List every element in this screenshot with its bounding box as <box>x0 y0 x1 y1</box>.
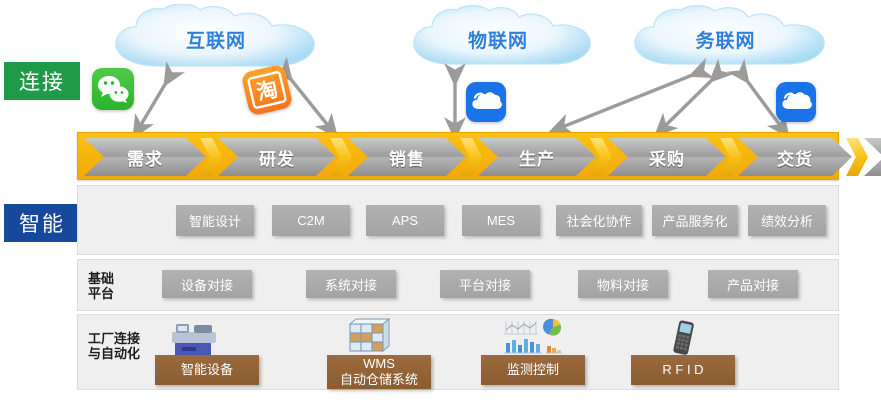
base-chip-product-integration[interactable]: 产品对接 <box>708 270 798 298</box>
base-chip-material-integration[interactable]: 物料对接 <box>578 270 668 298</box>
cloud-icon[interactable] <box>466 82 506 122</box>
smart-chip-mes[interactable]: MES <box>462 205 540 236</box>
factory-chip-monitoring-control[interactable]: 监测控制 <box>481 355 585 385</box>
wechat-icon[interactable] <box>92 68 134 110</box>
base-chip-system-integration[interactable]: 系统对接 <box>306 270 396 298</box>
chevron-shape-icon <box>864 138 881 176</box>
process-stage-label: 研发 <box>259 145 295 170</box>
factory-chip-label: WMS <box>363 356 395 372</box>
factory-automation-panel: 工厂连接 与自动化 智能设备 <box>77 314 839 390</box>
process-stage-label: 采购 <box>649 145 685 170</box>
base-chip-label: 物料对接 <box>597 275 649 294</box>
factory-title-line2: 与自动化 <box>88 346 140 361</box>
base-chip-label: 系统对接 <box>325 275 377 294</box>
cloud-service: 务联网 <box>618 4 833 72</box>
factory-chip-rfid[interactable]: R F I D <box>631 355 735 385</box>
diagram-canvas: 互联网 物联网 务联网 <box>0 0 881 400</box>
svg-text:淘: 淘 <box>254 77 280 105</box>
smart-chip-performance-analysis[interactable]: 绩效分析 <box>748 205 826 236</box>
base-chip-label: 平台对接 <box>459 275 511 294</box>
base-chip-equipment-integration[interactable]: 设备对接 <box>162 270 252 298</box>
taobao-icon[interactable]: 淘 <box>241 64 294 117</box>
process-stage-label: 生产 <box>519 145 555 170</box>
base-chip-label: 产品对接 <box>727 275 779 294</box>
smart-chip-product-servitization[interactable]: 产品服务化 <box>652 205 738 236</box>
factory-chip-smart-equipment[interactable]: 智能设备 <box>155 355 259 385</box>
smart-chip-label: 绩效分析 <box>761 211 813 230</box>
smart-chip-label: 社会化协作 <box>566 211 631 230</box>
factory-chip-label: 智能设备 <box>181 362 233 378</box>
factory-chip-label: R F I D <box>662 362 703 378</box>
base-platform-title-line2: 平台 <box>88 286 114 301</box>
smart-chip-aps[interactable]: APS <box>366 205 444 236</box>
factory-chip-label: 监测控制 <box>507 362 559 378</box>
arrow-internet-demand <box>139 76 170 128</box>
factory-title-line1: 工厂连接 <box>88 331 140 346</box>
cloud-internet: 互联网 <box>96 4 336 74</box>
process-stage-demand[interactable]: 需求 <box>84 138 206 176</box>
factory-automation-title: 工厂连接 与自动化 <box>88 331 140 361</box>
base-platform-title: 基础 平台 <box>88 271 114 301</box>
base-chip-platform-integration[interactable]: 平台对接 <box>440 270 530 298</box>
smart-chip-label: C2M <box>297 213 324 228</box>
process-stage-label: 销售 <box>389 145 425 170</box>
cloud-service-label: 务联网 <box>618 26 833 53</box>
process-bar: 需求 研发 销售 生产 采购 <box>77 132 839 180</box>
process-stage-delivery[interactable]: 交货 <box>738 138 852 176</box>
process-stage-rd[interactable]: 研发 <box>218 138 336 176</box>
process-stage-label: 交货 <box>777 145 813 170</box>
smart-chip-intelligent-design[interactable]: 智能设计 <box>176 205 254 236</box>
cloud-iot-label: 物联网 <box>398 26 598 53</box>
process-stage-sales[interactable]: 销售 <box>348 138 466 176</box>
process-stage-service[interactable]: 服务 <box>864 138 881 176</box>
smart-chip-label: MES <box>487 213 515 228</box>
factory-chip-wms[interactable]: WMS 自动仓储系统 <box>327 355 431 389</box>
base-platform-title-line1: 基础 <box>88 271 114 286</box>
factory-chip-sublabel: 自动仓储系统 <box>340 372 418 388</box>
side-label-connect-text: 连接 <box>19 66 65 96</box>
base-chip-label: 设备对接 <box>181 275 233 294</box>
cloud-icon[interactable] <box>776 82 816 122</box>
base-platform-panel: 基础 平台 设备对接 系统对接 平台对接 物料对接 产品对接 <box>77 259 839 311</box>
arrow-service-delivery <box>663 74 718 128</box>
smart-chip-label: 产品服务化 <box>662 211 727 230</box>
arrow-service-purchase <box>560 72 700 128</box>
cloud-internet-label: 互联网 <box>96 26 336 53</box>
smart-chip-c2m[interactable]: C2M <box>272 205 350 236</box>
process-stage-label: 需求 <box>127 145 163 170</box>
cloud-iot: 物联网 <box>398 4 598 72</box>
side-label-smart-text: 智能 <box>19 208 65 238</box>
process-stage-production[interactable]: 生产 <box>478 138 596 176</box>
smart-layer-panel: 智能设计 C2M APS MES 社会化协作 产品服务化 绩效分析 <box>77 185 839 255</box>
side-label-smart: 智能 <box>4 204 80 242</box>
process-stage-purchase[interactable]: 采购 <box>608 138 726 176</box>
smart-chip-label: 智能设计 <box>189 211 241 230</box>
side-label-connect: 连接 <box>4 62 80 100</box>
smart-chip-social-collaboration[interactable]: 社会化协作 <box>556 205 642 236</box>
smart-chip-label: APS <box>392 213 418 228</box>
